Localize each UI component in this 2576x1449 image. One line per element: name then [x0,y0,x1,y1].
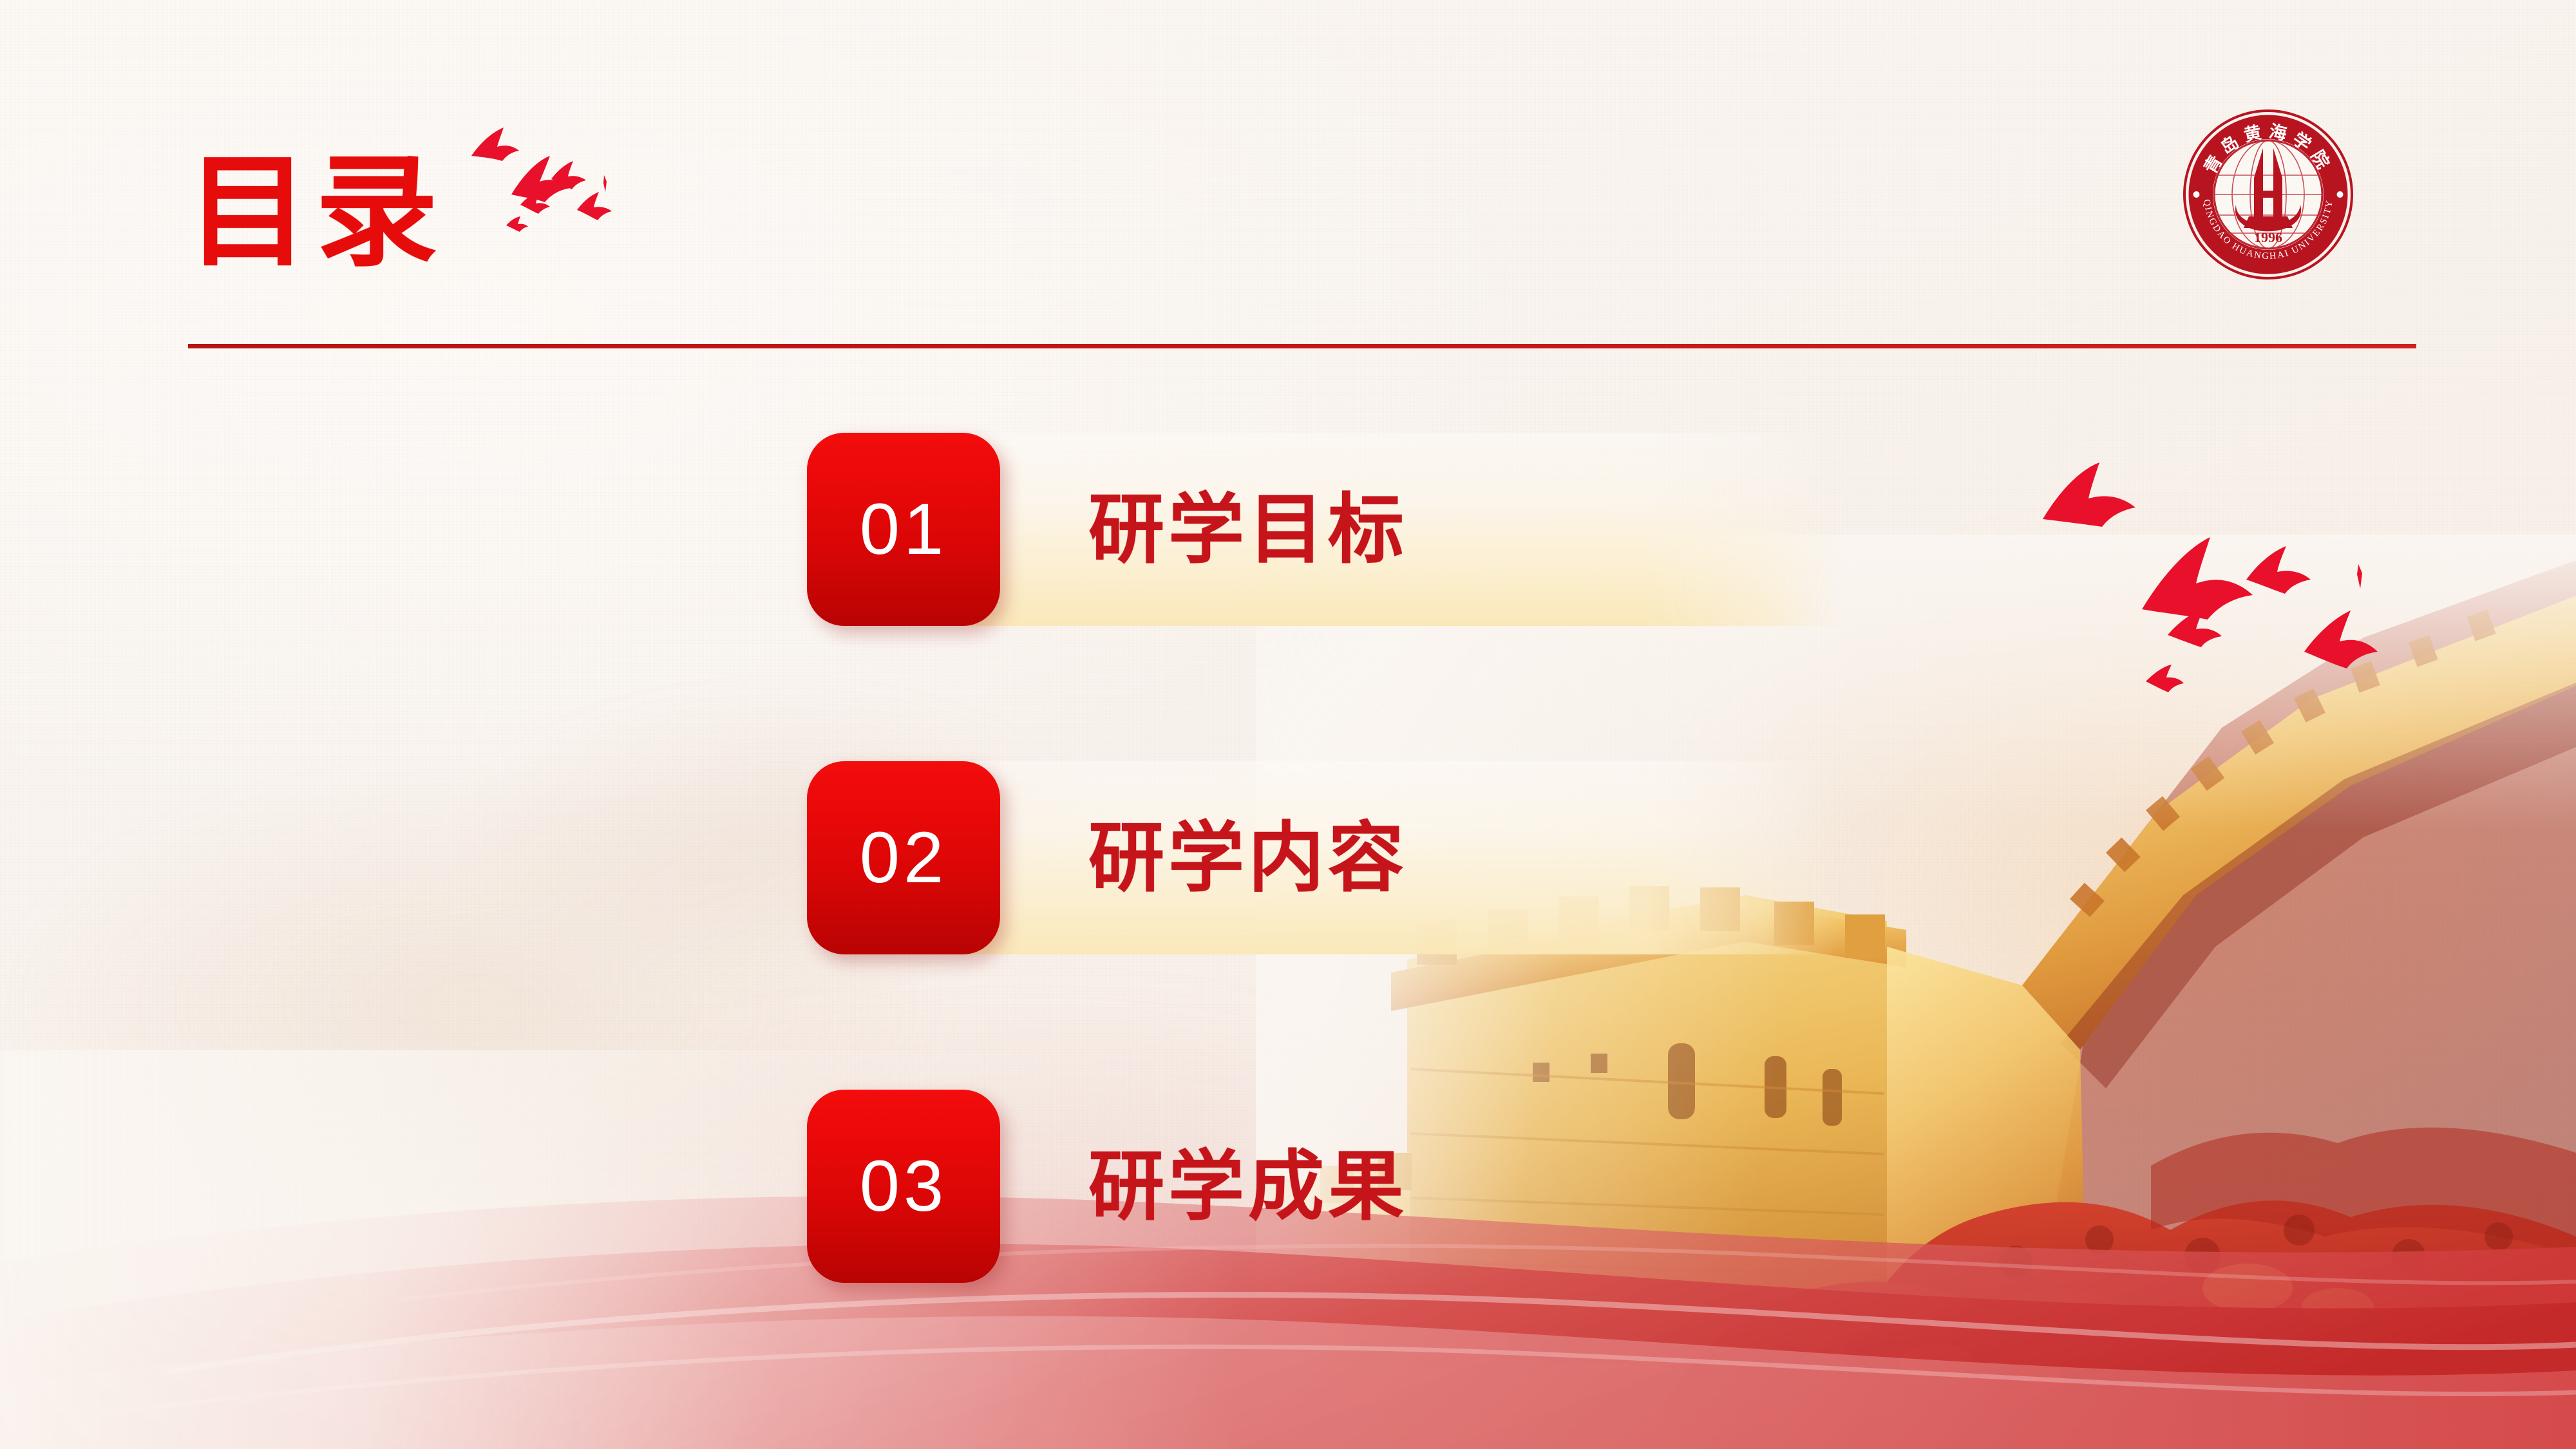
toc-number: 03 [860,1150,948,1222]
table-of-contents: 01 研学目标 02 研学内容 03 研学成果 [0,0,2576,1449]
toc-label[interactable]: 研学内容 [1088,820,1408,896]
toc-label[interactable]: 研学目标 [1088,491,1408,567]
presentation-slide: 目录 [0,0,2576,1449]
toc-number-badge[interactable]: 02 [807,761,1000,954]
toc-number-badge[interactable]: 01 [807,433,1000,626]
toc-number: 02 [860,822,948,894]
toc-number-badge[interactable]: 03 [807,1090,1000,1283]
toc-number: 01 [860,493,948,565]
toc-label[interactable]: 研学成果 [1088,1148,1408,1224]
